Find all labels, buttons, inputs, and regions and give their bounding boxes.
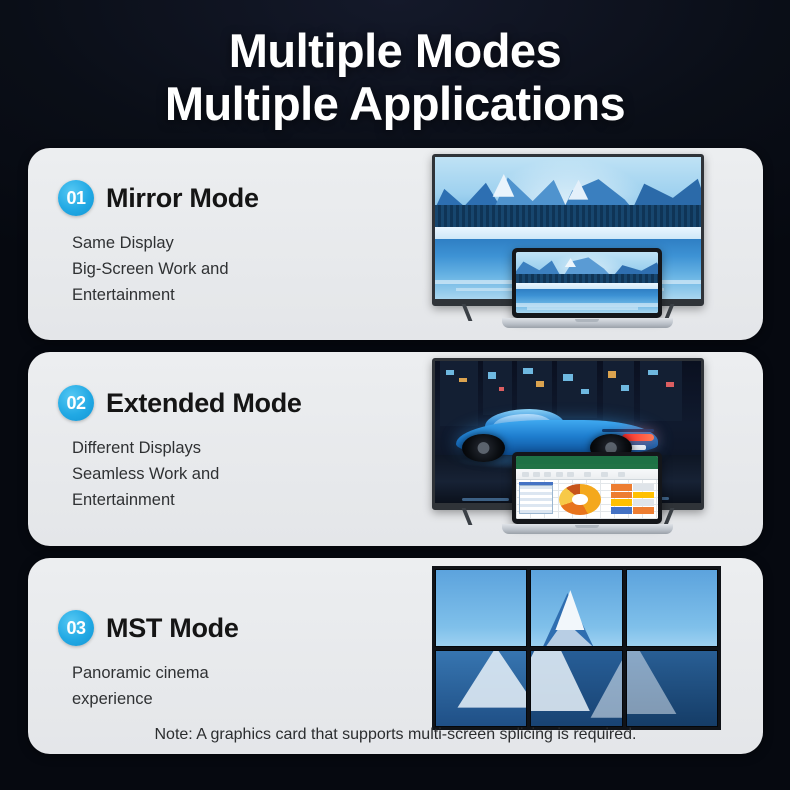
video-wall-panel bbox=[530, 650, 622, 728]
laptop-wallpaper-mountain-lake bbox=[516, 252, 658, 313]
mode-description: Different Displays Seamless Work and Ent… bbox=[58, 435, 438, 513]
video-wall-panel bbox=[435, 650, 527, 728]
laptop-lid bbox=[512, 452, 662, 524]
mode-card-extended[interactable]: 02 Extended Mode Different Displays Seam… bbox=[28, 352, 763, 546]
mode-heading-row: 01 Mirror Mode bbox=[58, 180, 438, 216]
video-wall bbox=[432, 566, 721, 730]
mode-title: MST Mode bbox=[106, 613, 239, 644]
mode-description: Panoramic cinema experience bbox=[58, 660, 438, 712]
video-wall-panel bbox=[530, 569, 622, 647]
spreadsheet-data-table bbox=[519, 485, 553, 514]
title-line-1: Multiple Modes bbox=[0, 24, 790, 77]
tv-leg-left bbox=[461, 508, 472, 525]
mirror-mode-illustration bbox=[432, 148, 763, 340]
laptop-trackpad-notch bbox=[575, 319, 599, 322]
video-wall-grid bbox=[432, 566, 721, 730]
mode-number-badge: 01 bbox=[58, 180, 94, 216]
mode-text-column: 01 Mirror Mode Same Display Big-Screen W… bbox=[58, 148, 438, 340]
footer-note: Note: A graphics card that supports mult… bbox=[28, 726, 763, 744]
mode-title: Mirror Mode bbox=[106, 183, 259, 214]
tv-leg-right bbox=[664, 508, 675, 525]
description-line: Entertainment bbox=[72, 282, 438, 308]
extended-mode-illustration bbox=[432, 352, 763, 546]
mode-card-mirror[interactable]: 01 Mirror Mode Same Display Big-Screen W… bbox=[28, 148, 763, 340]
mode-heading-row: 03 MST Mode bbox=[58, 610, 438, 646]
mode-text-column: 03 MST Mode Panoramic cinema experience bbox=[58, 558, 438, 754]
page-title: Multiple Modes Multiple Applications bbox=[0, 24, 790, 130]
mode-card-mst[interactable]: 03 MST Mode Panoramic cinema experience bbox=[28, 558, 763, 754]
video-wall-panel bbox=[626, 569, 718, 647]
mode-description: Same Display Big-Screen Work and Enterta… bbox=[58, 230, 438, 308]
mode-heading-row: 02 Extended Mode bbox=[58, 385, 438, 421]
tv-leg-left bbox=[461, 304, 472, 321]
description-line: Different Displays bbox=[72, 435, 438, 461]
description-line: Same Display bbox=[72, 230, 438, 256]
description-line: Big-Screen Work and bbox=[72, 256, 438, 282]
description-line: Entertainment bbox=[72, 487, 438, 513]
description-line: Panoramic cinema bbox=[72, 660, 438, 686]
video-wall-panel bbox=[626, 650, 718, 728]
spreadsheet-app bbox=[516, 456, 658, 519]
mode-number-badge: 03 bbox=[58, 610, 94, 646]
laptop bbox=[512, 248, 662, 328]
laptop-screen bbox=[516, 456, 658, 519]
description-line: Seamless Work and bbox=[72, 461, 438, 487]
laptop-screen bbox=[516, 252, 658, 313]
mst-mode-illustration bbox=[432, 566, 722, 732]
laptop-lid bbox=[512, 248, 662, 318]
video-wall-panel bbox=[435, 569, 527, 647]
infographic-page: Multiple Modes Multiple Applications 01 … bbox=[0, 0, 790, 790]
donut-chart bbox=[559, 484, 602, 516]
spreadsheet-highlighted-cells bbox=[611, 484, 654, 514]
spreadsheet-title-bar bbox=[516, 456, 658, 464]
title-line-2: Multiple Applications bbox=[0, 77, 790, 130]
laptop bbox=[512, 452, 662, 534]
mode-number-badge: 02 bbox=[58, 385, 94, 421]
mode-title: Extended Mode bbox=[106, 388, 302, 419]
laptop-trackpad-notch bbox=[575, 525, 599, 528]
description-line: experience bbox=[72, 686, 438, 712]
mode-text-column: 02 Extended Mode Different Displays Seam… bbox=[58, 352, 438, 546]
